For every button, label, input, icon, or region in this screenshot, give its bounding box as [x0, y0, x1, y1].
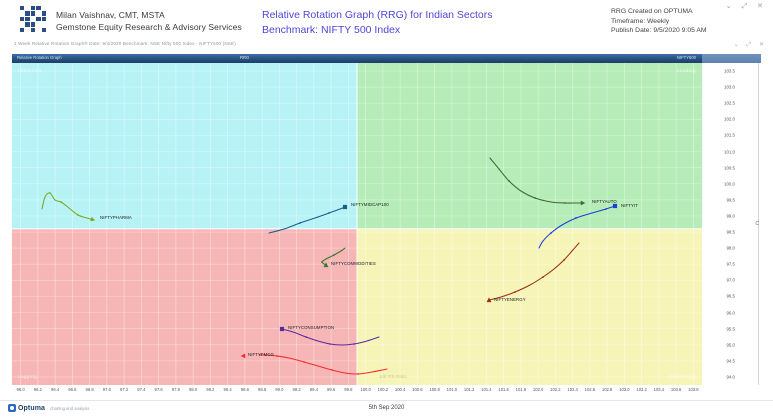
rrg-tail[interactable] — [42, 192, 95, 221]
footer-date: 5th Sep 2020 — [0, 405, 773, 411]
x-axis-tick: 96.0 — [17, 387, 25, 392]
y-axis-tick: 101.0 — [724, 149, 735, 154]
y-axis-tick: 100.5 — [724, 165, 735, 170]
chart-area[interactable]: Improving Leading Lagging Weakening JdK … — [12, 63, 761, 385]
x-axis-tick: 102.2 — [550, 387, 560, 392]
title-bar-right: NIFTY500 — [677, 55, 696, 60]
x-axis-tick: 101.2 — [464, 387, 474, 392]
x-axis-tick: 97.6 — [155, 387, 163, 392]
x-axis-tick: 99.2 — [293, 387, 301, 392]
y-axis-cursor-label: C — [755, 221, 759, 227]
title-line-2: Benchmark: NIFTY 500 Index — [262, 23, 493, 38]
y-axis-tick: 99.5 — [726, 197, 735, 202]
y-axis-tick: 97.0 — [726, 278, 735, 283]
x-axis-tick: 98.6 — [241, 387, 249, 392]
tail-head-marker — [241, 353, 245, 358]
x-axis-tick: 99.0 — [275, 387, 283, 392]
x-axis-tick: 96.6 — [68, 387, 76, 392]
tail-head-marker — [613, 204, 617, 208]
x-axis-tick: 98.2 — [206, 387, 214, 392]
page-footer: Optuma charting and analysis 5th Sep 202… — [0, 400, 773, 418]
y-axis-tick: 98.5 — [726, 230, 735, 235]
series-label: NIFTYENERGY — [494, 297, 526, 302]
x-axis-tick: 98.0 — [189, 387, 197, 392]
x-axis-tick: 101.8 — [516, 387, 526, 392]
x-axis-tick: 102.0 — [533, 387, 543, 392]
chart-title-bar: Relative Rotation Graph RRG NIFTY500 — [12, 54, 702, 63]
series-label: NIFTYPHARMA — [100, 215, 132, 220]
meta-publish-date: Publish Date: 9/5/2020 9:05 AM — [611, 26, 707, 36]
rrg-tails-layer[interactable] — [12, 63, 702, 385]
series-label: NIFTYCONSUMPTION — [288, 325, 334, 330]
y-axis-tick: 102.0 — [724, 117, 735, 122]
y-axis[interactable]: 103.5103.0102.5102.0101.5101.0100.5100.0… — [706, 63, 761, 385]
y-axis-tick: 99.0 — [726, 213, 735, 218]
x-axis-tick: 103.6 — [671, 387, 681, 392]
x-axis-tick: 100.8 — [429, 387, 439, 392]
title-line-1: Relative Rotation Graph (RRG) for Indian… — [262, 8, 493, 23]
y-axis-tick: 102.5 — [724, 101, 735, 106]
x-axis-tick: 101.6 — [498, 387, 508, 392]
x-axis-tick: 102.4 — [567, 387, 577, 392]
x-axis-tick: 97.8 — [172, 387, 180, 392]
y-axis-tick: 101.5 — [724, 133, 735, 138]
x-axis-tick: 100.2 — [378, 387, 388, 392]
x-axis-tick: 99.8 — [344, 387, 352, 392]
chart-sub-caption: 1 Week Relative Rotation Graph® Date: 9/… — [14, 41, 236, 46]
tail-head-marker — [343, 205, 347, 209]
x-axis-tick: 96.2 — [34, 387, 42, 392]
panel-controls[interactable]: ⌄ ⤢ ✕ — [734, 41, 767, 49]
x-axis-tick: 96.4 — [51, 387, 59, 392]
y-axis-tick: 94.5 — [726, 358, 735, 363]
y-axis-tick: 96.0 — [726, 310, 735, 315]
x-axis-tick: 101.0 — [447, 387, 457, 392]
meta-created-on: RRG Created on OPTUMA — [611, 7, 707, 17]
y-axis-tick: 94.0 — [726, 374, 735, 379]
rrg-application: Milan Vaishnav, CMT, MSTA Gemstone Equit… — [0, 0, 773, 417]
chart-title-bar-cap — [702, 54, 761, 63]
x-axis-tick: 103.4 — [654, 387, 664, 392]
gemstone-logo-icon — [20, 6, 46, 32]
x-axis-tick: 99.4 — [310, 387, 318, 392]
x-axis-tick: 98.8 — [258, 387, 266, 392]
rrg-tail[interactable] — [487, 243, 579, 302]
x-axis-tick: 99.6 — [327, 387, 335, 392]
y-axis-tick: 95.0 — [726, 342, 735, 347]
rrg-plot[interactable]: Improving Leading Lagging Weakening JdK … — [12, 63, 702, 385]
author-firm: Gemstone Equity Research & Advisory Serv… — [56, 21, 242, 34]
x-axis-tick: 101.4 — [481, 387, 491, 392]
x-axis-tick: 103.0 — [619, 387, 629, 392]
y-axis-tick: 103.0 — [724, 85, 735, 90]
x-axis-tick: 102.6 — [585, 387, 595, 392]
series-label: NIFTYAUTO — [592, 199, 617, 204]
chart-meta-block: RRG Created on OPTUMA Timeframe: Weekly … — [611, 7, 707, 36]
series-label: NIFTYFMCG — [248, 352, 274, 357]
y-axis-tick: 95.5 — [726, 326, 735, 331]
title-bar-center: RRG — [240, 55, 249, 60]
x-axis-tick: 100.0 — [360, 387, 370, 392]
y-axis-tick: 96.5 — [726, 294, 735, 299]
title-bar-left: Relative Rotation Graph — [17, 55, 62, 60]
tail-head-marker — [581, 201, 585, 206]
y-axis-tick: 100.0 — [724, 181, 735, 186]
series-label: NIFTYCOMMODITIES — [331, 261, 376, 266]
y-axis-tick: 98.0 — [726, 246, 735, 251]
x-axis-tick: 103.2 — [636, 387, 646, 392]
rrg-tail[interactable] — [539, 204, 617, 248]
tail-head-marker — [90, 217, 95, 222]
x-axis-tick: 97.4 — [137, 387, 145, 392]
page-header: Milan Vaishnav, CMT, MSTA Gemstone Equit… — [0, 0, 773, 38]
x-axis-tick: 97.2 — [120, 387, 128, 392]
rrg-tail[interactable] — [490, 158, 585, 205]
x-axis[interactable]: 96.096.296.496.696.897.097.297.497.697.8… — [12, 385, 702, 399]
meta-timeframe: Timeframe: Weekly — [611, 17, 707, 27]
author-name: Milan Vaishnav, CMT, MSTA — [56, 10, 242, 21]
series-label: NIFTYMIDCAP100 — [351, 202, 389, 207]
x-axis-tick: 96.8 — [86, 387, 94, 392]
y-axis-tick: 103.5 — [724, 69, 735, 74]
x-axis-tick: 100.4 — [395, 387, 405, 392]
x-axis-tick: 100.6 — [412, 387, 422, 392]
x-axis-tick: 103.8 — [688, 387, 698, 392]
tail-head-marker — [280, 327, 284, 331]
rrg-tail[interactable] — [269, 205, 347, 233]
x-axis-tick: 102.8 — [602, 387, 612, 392]
x-axis-tick: 98.4 — [224, 387, 232, 392]
series-label: NIFTYIT — [621, 203, 638, 208]
x-axis-tick: 97.0 — [103, 387, 111, 392]
y-axis-tick: 97.5 — [726, 262, 735, 267]
page-title: Relative Rotation Graph (RRG) for Indian… — [262, 8, 493, 38]
window-controls[interactable]: ⌄ ⤢ ✕ — [726, 2, 767, 11]
author-block: Milan Vaishnav, CMT, MSTA Gemstone Equit… — [56, 10, 242, 34]
